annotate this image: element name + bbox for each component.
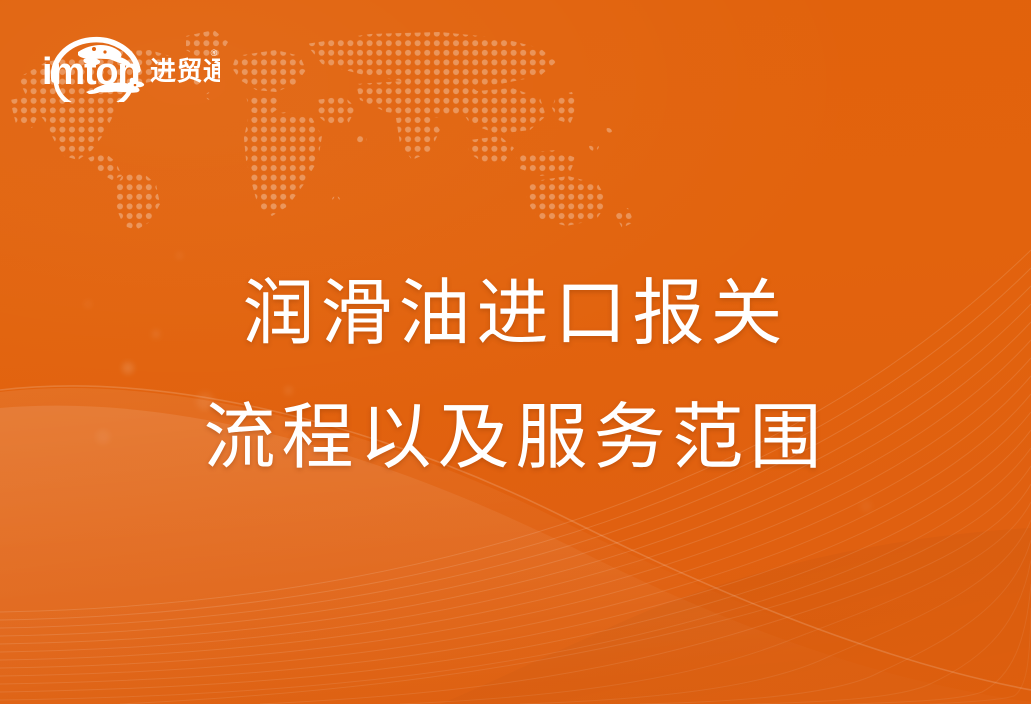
title-line-2: 流程以及服务范围 (0, 376, 1031, 500)
page-title: 润滑油进口报关 流程以及服务范围 (0, 252, 1031, 500)
bokeh-dot (860, 500, 872, 512)
brand-logo[interactable]: imton 进贸通 ® (38, 26, 220, 102)
title-slide: imton 进贸通 ® 润滑油进口报关 流程以及服务范围 (0, 0, 1031, 704)
logo-wordmark: imton (42, 51, 139, 93)
title-line-1: 润滑油进口报关 (0, 252, 1031, 376)
logo-chinese-name: 进贸通 (150, 56, 220, 86)
trademark-icon: ® (211, 48, 218, 58)
